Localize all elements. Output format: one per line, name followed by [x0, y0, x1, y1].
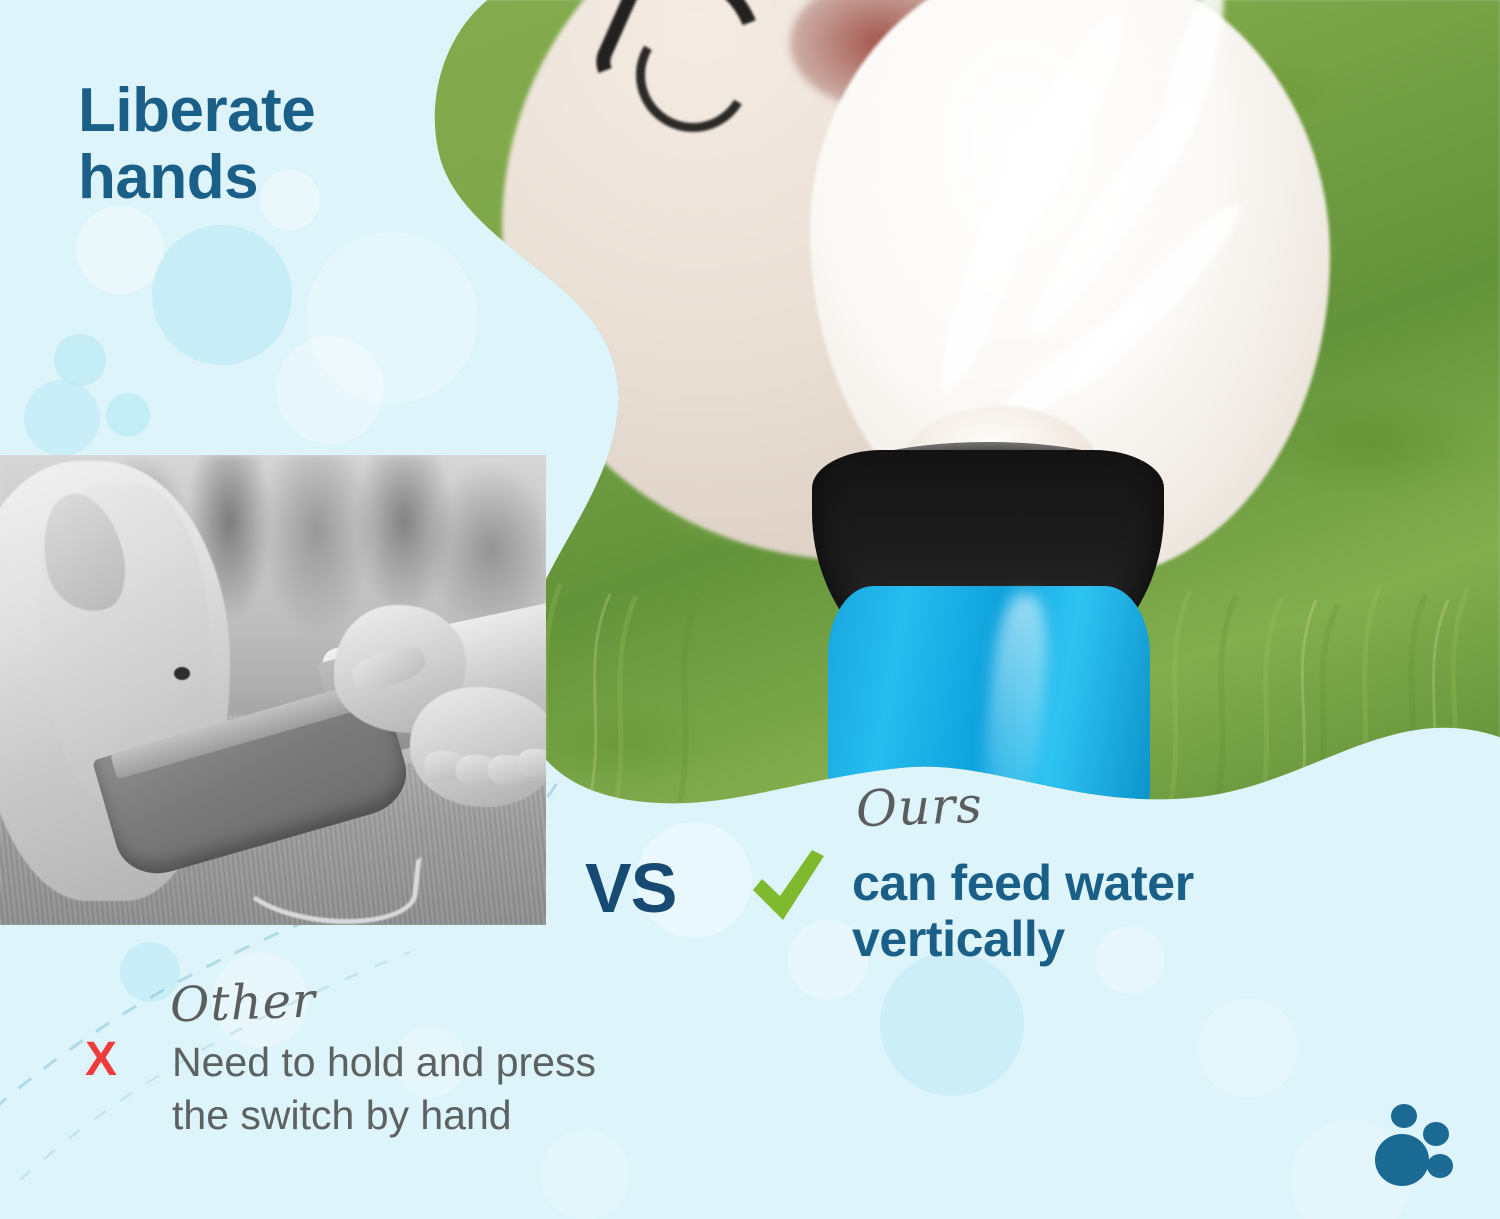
- x-icon: X: [85, 1032, 117, 1087]
- other-eyebrow: Other: [169, 972, 317, 1033]
- ours-claim-text: can feed water vertically: [852, 855, 1194, 967]
- dog-drinking-competitor-photo: [0, 455, 546, 925]
- bw-lower-hand: [410, 687, 546, 807]
- bw-dog-eye: [174, 667, 190, 680]
- paw-print-icon: [1366, 1104, 1458, 1190]
- product-infographic: Liberate hands VS Ours can feed water ve…: [0, 0, 1500, 1219]
- vs-label: VS: [585, 848, 676, 928]
- page-headline: Liberate hands: [78, 78, 315, 212]
- check-icon: [748, 846, 828, 928]
- ours-eyebrow: Ours: [855, 776, 984, 838]
- other-claim-text: Need to hold and press the switch by han…: [172, 1036, 596, 1143]
